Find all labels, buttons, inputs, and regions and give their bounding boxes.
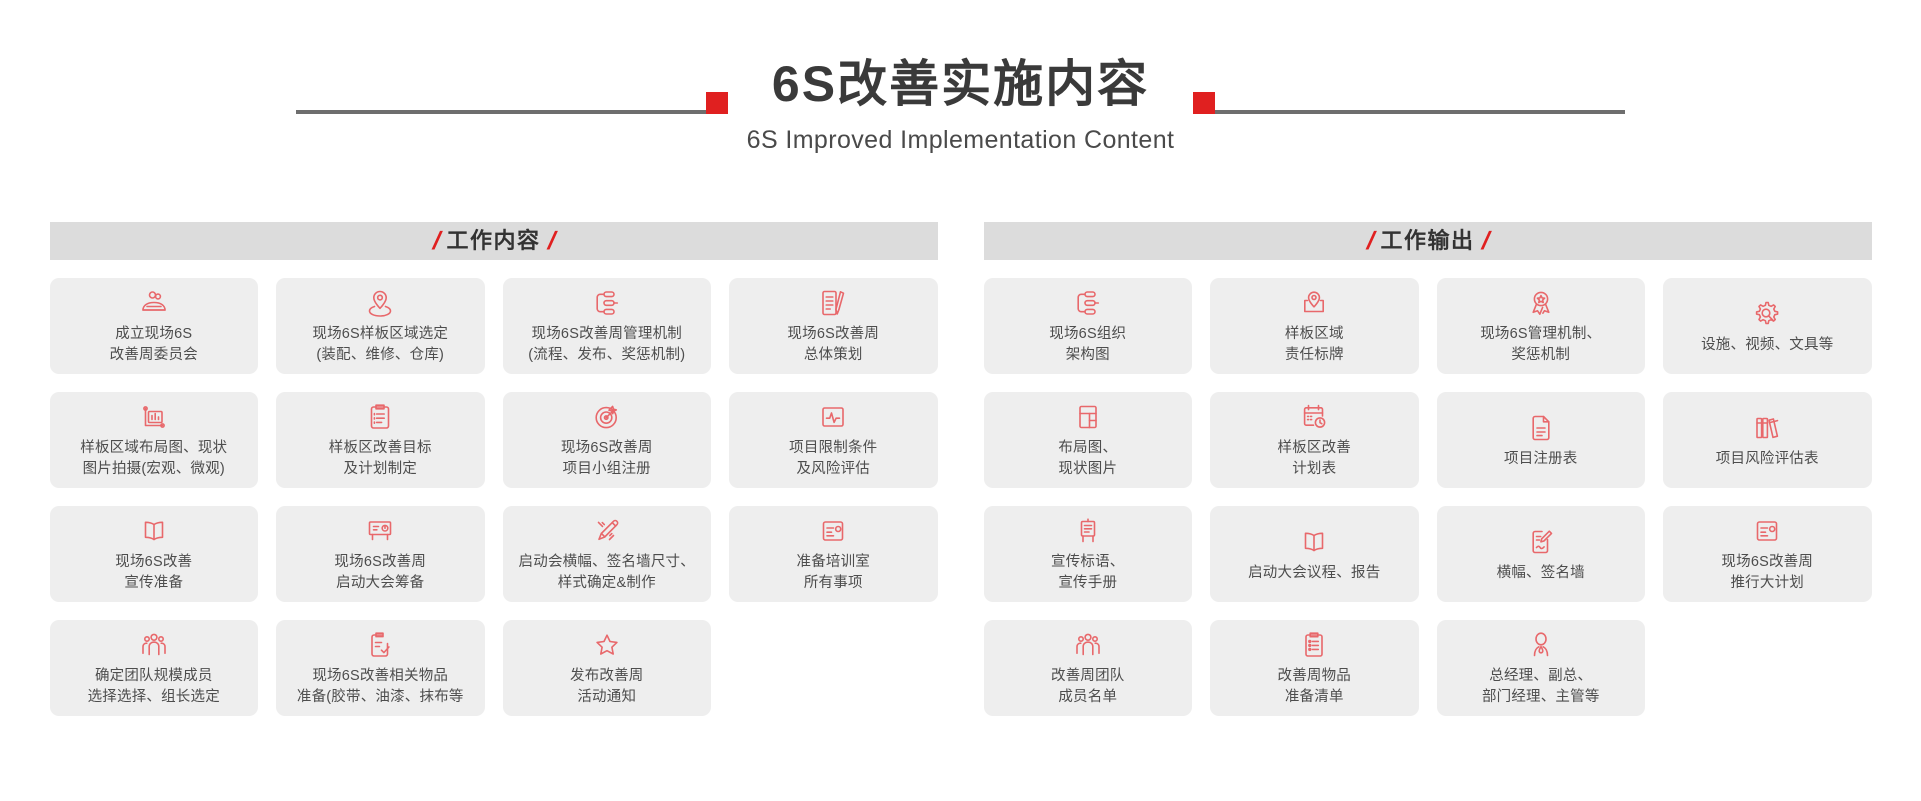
page-title: 6S改善实施内容 [772,48,1149,120]
card-label: 现场6S改善周管理机制 (流程、发布、奖惩机制) [528,324,685,365]
group-title: 工作输出 [1380,230,1474,252]
card-label: 现场6S改善周 总体策划 [787,324,879,365]
card-label: 布局图、 现状图片 [1058,438,1117,479]
card[interactable]: 现场6S改善相关物品 准备(胶带、油漆、抹布等 [276,620,485,716]
clipboard-items-icon [1297,628,1331,662]
group-work-output: /工作输出/现场6S组织 架构图样板区域 责任标牌现场6S管理机制、 奖惩机制设… [984,222,1872,716]
process-flow-icon [590,286,624,320]
card[interactable]: 样板区域布局图、现状 图片拍摄(宏观、微观) [50,392,259,488]
clipboard-list-icon [363,400,397,434]
card[interactable]: 现场6S改善周管理机制 (流程、发布、奖惩机制) [503,278,712,374]
card-grid-work-output: 现场6S组织 架构图样板区域 责任标牌现场6S管理机制、 奖惩机制设施、视频、文… [984,278,1872,716]
id-card-icon [1750,514,1784,548]
card[interactable]: 现场6S改善周 推行大计划 [1663,506,1872,602]
checklist-board-icon [363,628,397,662]
card-label: 启动会横幅、签名墙尺寸、 样式确定&制作 [519,552,695,593]
page-subtitle: 6S Improved Implementation Content [0,126,1921,155]
card-placeholder [729,620,938,716]
flipchart-icon [1071,514,1105,548]
card-label: 启动大会议程、报告 [1248,563,1380,584]
card-label: 宣传标语、 宣传手册 [1051,552,1125,593]
card-label: 样板区域 责任标牌 [1285,324,1344,365]
card[interactable]: 现场6S改善周 启动大会筹备 [276,506,485,602]
process-flow-icon [1071,286,1105,320]
group-work-content: /工作内容/成立现场6S 改善周委员会现场6S样板区域选定 (装配、维修、仓库)… [50,222,938,716]
card[interactable]: 现场6S改善周 项目小组注册 [503,392,712,488]
slash-left-icon: / [1366,229,1375,254]
card[interactable]: 横幅、签名墙 [1437,506,1646,602]
books-shelf-icon [1750,411,1784,445]
card-label: 项目注册表 [1504,449,1578,470]
rule-line-left [296,110,706,114]
card[interactable]: 样板区改善目标 及计划制定 [276,392,485,488]
group-title: 工作内容 [446,230,540,252]
card[interactable]: 项目限制条件 及风险评估 [729,392,938,488]
document-pen-icon [816,286,850,320]
committee-icon [137,286,171,320]
card[interactable]: 设施、视频、文具等 [1663,278,1872,374]
calendar-clock-icon [1297,400,1331,434]
card-label: 项目风险评估表 [1716,449,1819,470]
card[interactable]: 确定团队规模成员 选择选择、组长选定 [50,620,259,716]
target-dart-icon [590,400,624,434]
card[interactable]: 成立现场6S 改善周委员会 [50,278,259,374]
card[interactable]: 现场6S样板区域选定 (装配、维修、仓库) [276,278,485,374]
card[interactable]: 现场6S改善 宣传准备 [50,506,259,602]
poster-root: 6S改善实施内容 6S Improved Implementation Cont… [0,0,1921,801]
rule-dot-left [706,92,728,114]
group-header-inner: /工作内容/ [431,229,557,254]
pin-signboard-icon [1297,286,1331,320]
card-label: 现场6S改善周 项目小组注册 [561,438,653,479]
layout-plan-icon [1071,400,1105,434]
card-placeholder [1663,620,1872,716]
card[interactable]: 项目风险评估表 [1663,392,1872,488]
card[interactable]: 宣传标语、 宣传手册 [984,506,1193,602]
rule-dot-right [1193,92,1215,114]
card[interactable]: 布局图、 现状图片 [984,392,1193,488]
team-group-icon [137,628,171,662]
title-row: 6S改善实施内容 [0,48,1921,120]
file-text-icon [1524,411,1558,445]
title-rule-right [1193,48,1625,120]
card[interactable]: 样板区改善 计划表 [1210,392,1419,488]
team-group-icon [1071,628,1105,662]
card[interactable]: 现场6S组织 架构图 [984,278,1193,374]
group-header-inner: /工作输出/ [1365,229,1491,254]
card-label: 改善周物品 准备清单 [1278,666,1352,707]
star-outline-icon [590,628,624,662]
card-label: 现场6S改善相关物品 准备(胶带、油漆、抹布等 [297,666,464,707]
card-label: 现场6S组织 架构图 [1049,324,1126,365]
card[interactable]: 总经理、副总、 部门经理、主管等 [1437,620,1646,716]
slash-right-icon: / [547,229,556,254]
location-pin-icon [363,286,397,320]
card-label: 现场6S改善 宣传准备 [115,552,192,593]
gear-search-icon [1750,297,1784,331]
award-ribbon-icon [1524,286,1558,320]
card-label: 现场6S管理机制、 奖惩机制 [1480,324,1601,365]
bar-chart-frame-icon [137,400,171,434]
card[interactable]: 改善周团队 成员名单 [984,620,1193,716]
presentation-board-icon [363,514,397,548]
card-label: 成立现场6S 改善周委员会 [110,324,198,365]
risk-pulse-icon [816,400,850,434]
card-label: 总经理、副总、 部门经理、主管等 [1482,666,1600,707]
group-header-work-output: /工作输出/ [984,222,1872,260]
card-label: 样板区域布局图、现状 图片拍摄(宏观、微观) [80,438,227,479]
rule-line-right [1215,110,1625,114]
card-label: 样板区改善 计划表 [1278,438,1352,479]
card-label: 样板区改善目标 及计划制定 [329,438,432,479]
slash-left-icon: / [432,229,441,254]
group-container: /工作内容/成立现场6S 改善周委员会现场6S样板区域选定 (装配、维修、仓库)… [0,222,1921,716]
card[interactable]: 现场6S管理机制、 奖惩机制 [1437,278,1646,374]
open-book-icon [1297,525,1331,559]
card[interactable]: 启动大会议程、报告 [1210,506,1419,602]
card-label: 项目限制条件 及风险评估 [789,438,877,479]
slash-right-icon: / [1481,229,1490,254]
card-label: 现场6S改善周 推行大计划 [1721,552,1813,593]
card[interactable]: 发布改善周 活动通知 [503,620,712,716]
card[interactable]: 启动会横幅、签名墙尺寸、 样式确定&制作 [503,506,712,602]
page-header: 6S改善实施内容 6S Improved Implementation Cont… [0,48,1921,178]
card-label: 现场6S样板区域选定 (装配、维修、仓库) [312,324,448,365]
card[interactable]: 现场6S改善周 总体策划 [729,278,938,374]
card-label: 现场6S改善周 启动大会筹备 [334,552,426,593]
card[interactable]: 准备培训室 所有事项 [729,506,938,602]
open-book-icon [137,514,171,548]
card-label: 准备培训室 所有事项 [797,552,871,593]
card-label: 确定团队规模成员 选择选择、组长选定 [88,666,220,707]
card[interactable]: 样板区域 责任标牌 [1210,278,1419,374]
card-label: 发布改善周 活动通知 [570,666,644,707]
ruler-pencil-icon [590,514,624,548]
card-label: 改善周团队 成员名单 [1051,666,1125,707]
id-card-icon [816,514,850,548]
signature-note-icon [1524,525,1558,559]
card-label: 横幅、签名墙 [1497,563,1585,584]
person-manager-icon [1524,628,1558,662]
card-grid-work-content: 成立现场6S 改善周委员会现场6S样板区域选定 (装配、维修、仓库)现场6S改善… [50,278,938,716]
card-label: 设施、视频、文具等 [1701,335,1833,356]
card[interactable]: 改善周物品 准备清单 [1210,620,1419,716]
group-header-work-content: /工作内容/ [50,222,938,260]
title-rule-left [296,48,728,120]
card[interactable]: 项目注册表 [1437,392,1646,488]
